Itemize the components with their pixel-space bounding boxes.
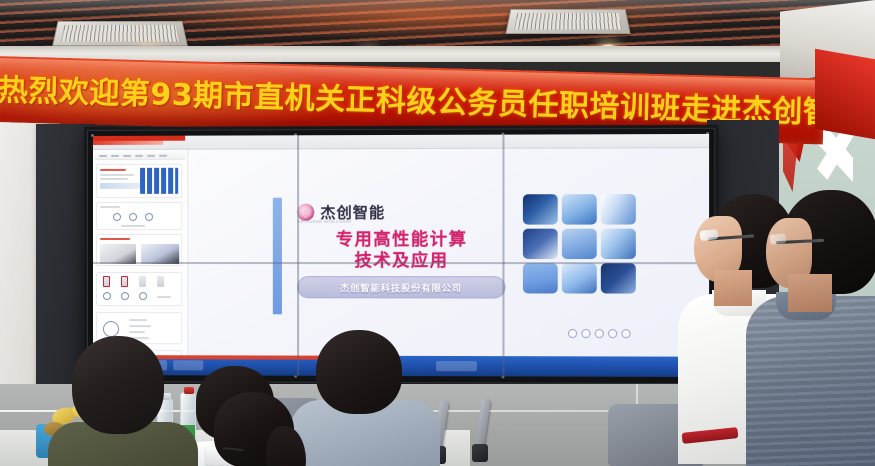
webpage-card[interactable] [96, 202, 182, 230]
presentation-slide[interactable]: 杰创智能 JIECHUANG INTELLIGENT 专用高性能计算 技术及应用… [188, 148, 709, 357]
indicator-dot[interactable] [568, 329, 577, 338]
torso [746, 296, 875, 466]
taskbar-item[interactable] [436, 361, 477, 371]
head [316, 330, 402, 414]
bottle-cap [184, 387, 194, 394]
video-wall-seam [502, 135, 504, 377]
head [72, 336, 164, 434]
grid-image [523, 194, 558, 224]
video-wall-seam [297, 135, 299, 375]
indicator-dot[interactable] [621, 329, 630, 338]
air-vent-icon [52, 21, 188, 46]
slide-title-line1: 专用高性能计算 [295, 230, 509, 251]
web-page-panel[interactable] [93, 150, 188, 356]
webpage-card[interactable] [96, 164, 182, 198]
taskbar-item[interactable] [173, 360, 203, 370]
shirt-stripes [746, 296, 875, 466]
webpage-card[interactable] [96, 272, 182, 306]
logo-emblem-icon [297, 204, 314, 221]
webpage-nav[interactable] [95, 152, 185, 160]
meeting-room-photo: 热烈欢迎第93期市直机关正科级公务员任职培训班走进杰创智能 [0, 0, 875, 466]
grid-image [601, 194, 636, 224]
grid-image [523, 263, 558, 293]
slide-company-name: 杰创智能科技股份有限公司 [297, 276, 505, 298]
slide-title: 专用高性能计算 技术及应用 [295, 230, 509, 272]
browser-tab-strip[interactable] [93, 141, 163, 145]
video-wall-seam [93, 262, 709, 264]
indicator-dot[interactable] [608, 329, 617, 338]
grid-image [562, 229, 597, 259]
grid-image [523, 229, 558, 259]
neck [714, 270, 752, 306]
slide-image-grid [523, 194, 636, 293]
grid-image [562, 263, 597, 293]
grid-image [601, 229, 636, 259]
chair-joint [472, 444, 488, 462]
logo-subtext: JIECHUANG INTELLIGENT [297, 220, 352, 224]
indicator-dot[interactable] [581, 329, 590, 338]
grid-image [601, 263, 636, 293]
ceiling-glow [120, 0, 740, 40]
ceiling [0, 0, 875, 62]
banner-right-edge [815, 49, 875, 140]
indicator-dot[interactable] [595, 329, 604, 338]
glasses-lens [700, 229, 719, 241]
neck [788, 274, 832, 312]
glasses-lens [770, 233, 787, 244]
air-vent-icon [505, 9, 630, 34]
slide-indicator-dots[interactable] [568, 329, 631, 338]
video-wall[interactable]: 杰创智能 JIECHUANG INTELLIGENT 专用高性能计算 技术及应用… [84, 125, 718, 387]
slide-accent-bar [273, 198, 282, 315]
video-wall-screen[interactable]: 杰创智能 JIECHUANG INTELLIGENT 专用高性能计算 技术及应用… [93, 134, 709, 377]
grid-image [562, 194, 597, 224]
